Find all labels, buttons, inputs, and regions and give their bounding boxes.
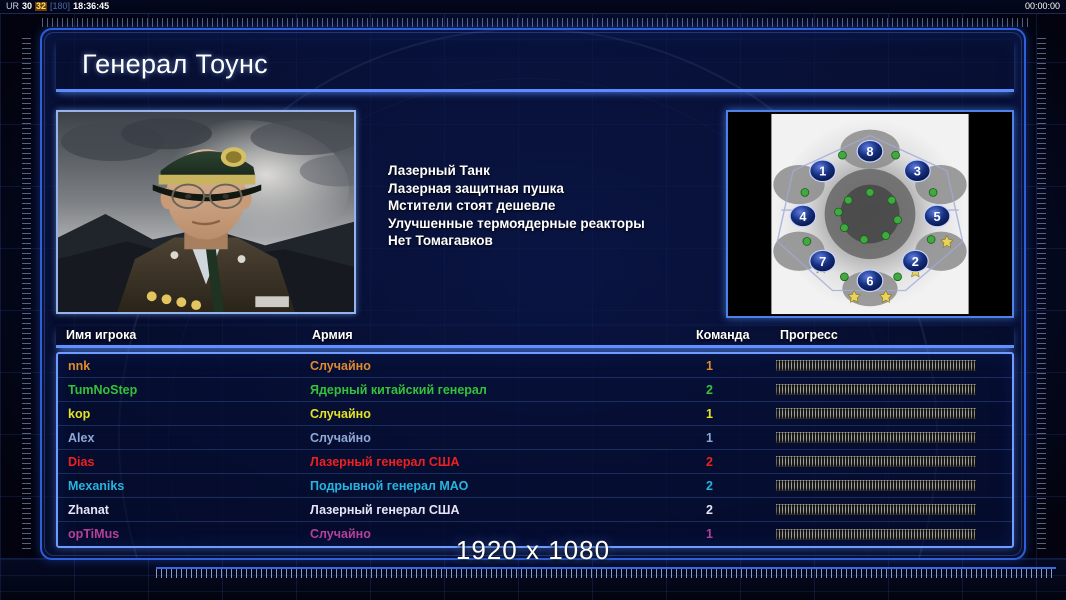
svg-text:7: 7 xyxy=(819,254,826,269)
player-army: Случайно xyxy=(310,407,371,421)
progress-bar-fill xyxy=(776,432,976,443)
title-bar: Генерал Тоунс xyxy=(56,40,1014,92)
map-start-position-6: 6 xyxy=(857,270,883,292)
bonus-line: Лазерная защитная пушка xyxy=(388,180,726,198)
player-army: Лазерный генерал США xyxy=(310,455,459,469)
table-row[interactable]: nnkСлучайно1 xyxy=(58,354,1012,378)
column-header-progress: Прогресс xyxy=(780,328,838,342)
map-start-position-1: 1 xyxy=(810,160,836,182)
player-name: Zhanat xyxy=(68,503,109,517)
svg-text:6: 6 xyxy=(866,274,873,289)
player-team: 1 xyxy=(706,431,713,445)
progress-bar-fill xyxy=(776,384,976,395)
topbar-timestamp: 18:36:45 xyxy=(73,2,109,11)
page-title: Генерал Тоунс xyxy=(56,49,268,80)
resolution-overlay: 1920 x 1080 xyxy=(0,535,1066,566)
topbar-bracket: [180] xyxy=(50,2,70,11)
ruler-left-icon xyxy=(22,38,31,552)
ruler-right-icon xyxy=(1037,38,1046,552)
map-preview-image: 8 1 3 4 5 xyxy=(728,112,1012,316)
progress-bar-fill xyxy=(776,456,976,467)
player-name: TumNoStep xyxy=(68,383,137,397)
progress-bar-fill xyxy=(776,480,976,491)
svg-text:1: 1 xyxy=(819,164,826,179)
player-team: 2 xyxy=(706,479,713,493)
player-name: kop xyxy=(68,407,90,421)
player-progress-bar xyxy=(776,432,976,443)
map-start-position-2: 2 xyxy=(903,250,929,272)
bonus-line: Лазерный Танк xyxy=(388,162,726,180)
column-header-team: Команда xyxy=(696,328,750,342)
table-row[interactable]: MexaniksПодрывной генерал МАО2 xyxy=(58,474,1012,498)
column-header-army: Армия xyxy=(312,328,353,342)
general-portrait xyxy=(56,110,356,314)
progress-bar-fill xyxy=(776,408,976,419)
ruler-top-icon xyxy=(42,18,1028,27)
player-progress-bar xyxy=(776,408,976,419)
player-progress-bar xyxy=(776,384,976,395)
player-army: Подрывной генерал МАО xyxy=(310,479,468,493)
player-table-body: nnkСлучайно1TumNoStepЯдерный китайский г… xyxy=(56,352,1014,548)
map-start-position-4: 4 xyxy=(790,205,816,227)
player-name: Mexaniks xyxy=(68,479,124,493)
svg-text:5: 5 xyxy=(933,209,940,224)
table-row[interactable]: DiasЛазерный генерал США2 xyxy=(58,450,1012,474)
player-army: Случайно xyxy=(310,431,371,445)
top-status-bar: UR 30 32 [180] 18:36:45 00:00:00 xyxy=(0,0,1066,14)
player-team: 1 xyxy=(706,407,713,421)
map-start-position-5: 5 xyxy=(924,205,950,227)
player-table-header: Имя игрока Армия Команда Прогресс xyxy=(56,326,1014,348)
topbar-ur-label: UR xyxy=(6,2,19,11)
progress-bar-fill xyxy=(776,360,976,371)
player-army: Случайно xyxy=(310,359,371,373)
player-progress-bar xyxy=(776,456,976,467)
player-team: 2 xyxy=(706,503,713,517)
column-header-name: Имя игрока xyxy=(66,328,136,342)
player-army: Ядерный китайский генерал xyxy=(310,383,487,397)
player-name: Alex xyxy=(68,431,94,445)
player-progress-bar xyxy=(776,504,976,515)
general-info-panel: Генерал Тоунс xyxy=(40,28,1026,560)
general-bonus-list: Лазерный Танк Лазерная защитная пушка Мс… xyxy=(356,110,726,250)
svg-text:8: 8 xyxy=(866,144,873,159)
content-row: Лазерный Танк Лазерная защитная пушка Мс… xyxy=(56,110,1014,318)
bonus-line: Улучшенные термоядерные реакторы xyxy=(388,215,726,233)
player-team: 2 xyxy=(706,383,713,397)
player-team: 2 xyxy=(706,455,713,469)
svg-text:4: 4 xyxy=(799,209,807,224)
bonus-line: Нет Томагавков xyxy=(388,232,726,250)
svg-text:2: 2 xyxy=(912,254,919,269)
bonus-line: Мстители стоят дешевле xyxy=(388,197,726,215)
general-portrait-image xyxy=(58,112,354,312)
topbar-clock: 00:00:00 xyxy=(1025,2,1060,11)
map-start-position-8: 8 xyxy=(857,140,883,162)
table-row[interactable]: kopСлучайно1 xyxy=(58,402,1012,426)
map-start-position-7: 7 xyxy=(810,250,836,272)
player-name: Dias xyxy=(68,455,94,469)
topbar-value-2: 32 xyxy=(35,2,47,11)
svg-text:3: 3 xyxy=(914,164,921,179)
topbar-left-group: UR 30 32 [180] 18:36:45 xyxy=(6,2,109,11)
table-row[interactable]: AlexСлучайно1 xyxy=(58,426,1012,450)
map-start-position-3: 3 xyxy=(905,160,931,182)
player-team: 1 xyxy=(706,359,713,373)
progress-bar-fill xyxy=(776,504,976,515)
player-progress-bar xyxy=(776,360,976,371)
player-progress-bar xyxy=(776,480,976,491)
bottom-ruler-icon xyxy=(156,567,1056,578)
map-preview[interactable]: 8 1 3 4 5 xyxy=(726,110,1014,318)
table-row[interactable]: TumNoStepЯдерный китайский генерал2 xyxy=(58,378,1012,402)
player-name: nnk xyxy=(68,359,90,373)
topbar-value-1: 30 xyxy=(22,2,32,11)
table-row[interactable]: ZhanatЛазерный генерал США2 xyxy=(58,498,1012,522)
player-army: Лазерный генерал США xyxy=(310,503,459,517)
